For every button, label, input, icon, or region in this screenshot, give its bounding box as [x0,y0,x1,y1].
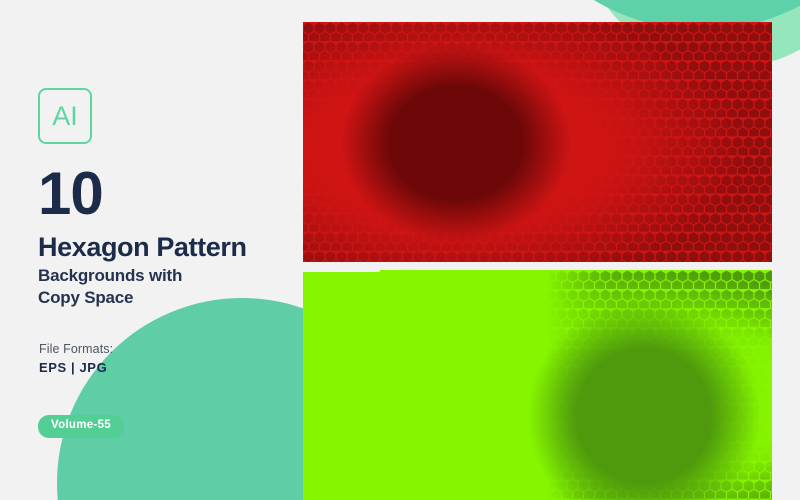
pattern-count: 10 [38,164,103,224]
ai-badge-label: AI [52,103,78,130]
red-copy-space-area [341,44,571,242]
adobe-illustrator-badge-icon: AI [38,88,92,144]
page-title: Hexagon Pattern [38,234,247,261]
info-column: AI 10 Hexagon Pattern Backgrounds with C… [38,0,288,500]
page-subtitle-line-1: Backgrounds with [38,265,182,287]
green-hexagon-background [303,270,772,500]
file-formats-label: File Formats: [39,342,113,356]
volume-badge: Volume-55 [38,415,124,438]
file-formats-value: EPS | JPG [39,360,107,375]
panel-separator [295,262,380,272]
red-hexagon-background [303,22,772,262]
poster-canvas: AI 10 Hexagon Pattern Backgrounds with C… [0,0,800,500]
page-subtitle: Backgrounds with Copy Space [38,265,182,310]
page-subtitle-line-2: Copy Space [38,287,182,309]
